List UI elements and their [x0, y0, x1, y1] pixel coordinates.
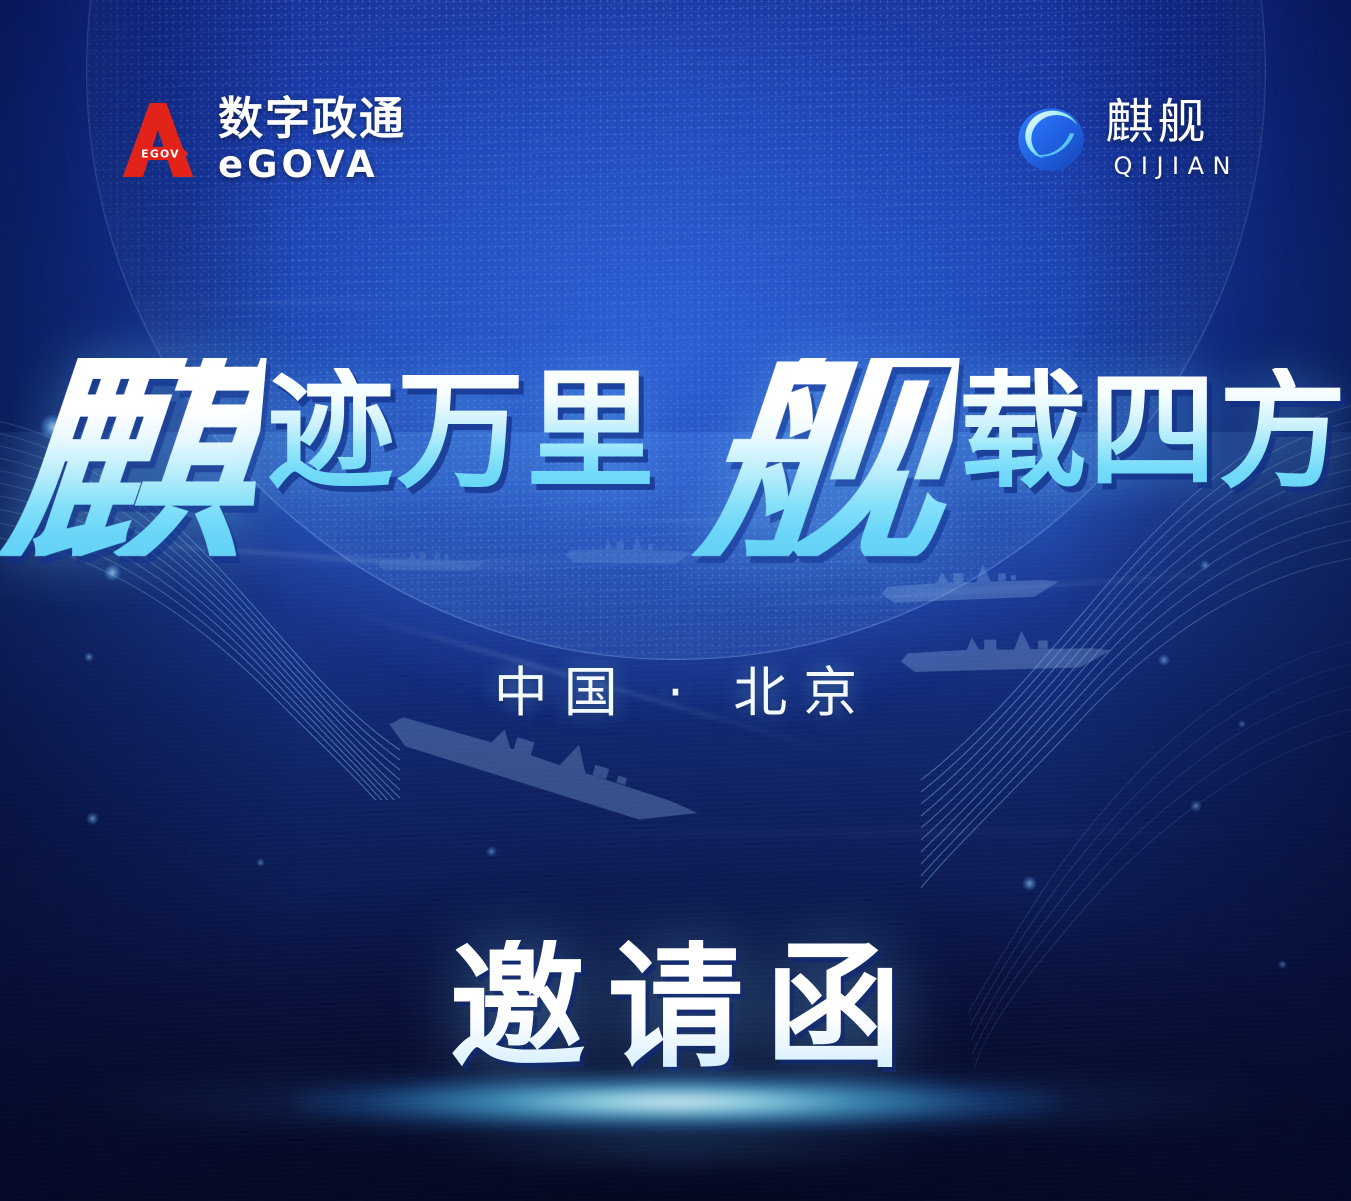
- main-title: 麒 迹万里 舰 载四方: [0, 300, 1351, 530]
- title-phrase-1: 麒 迹万里: [2, 358, 656, 530]
- location-subtitle: 中国 · 北京: [0, 648, 1351, 727]
- invitation-poster: EGOV 数字政通 eGOVA: [0, 0, 1351, 1201]
- qijian-swoosh-globe-icon: [1012, 99, 1090, 177]
- title-lead-glyph-2: 舰: [686, 358, 959, 556]
- egova-mark-text: EGOV: [141, 147, 180, 160]
- light-particle: [86, 812, 99, 825]
- light-particle: [1190, 800, 1202, 812]
- qijian-name-en: QIJIAN: [1106, 154, 1240, 178]
- light-particle: [256, 858, 265, 867]
- egova-logo[interactable]: EGOV 数字政通 eGOVA: [116, 96, 406, 183]
- egova-name-en: eGOVA: [218, 146, 406, 183]
- qijian-wordmark: 麒舰 QIJIAN: [1106, 98, 1240, 178]
- light-particle: [1200, 560, 1210, 570]
- logo-row: EGOV 数字政通 eGOVA: [0, 96, 1351, 192]
- invitation-title: 邀请函: [0, 940, 1351, 1076]
- horizon-light-beam: [296, 1073, 1056, 1131]
- title-rest-2: 载四方: [959, 368, 1349, 496]
- title-phrase-2: 舰 载四方: [693, 358, 1349, 530]
- egova-wordmark: 数字政通 eGOVA: [218, 96, 406, 183]
- egova-name-cn: 数字政通: [218, 96, 406, 141]
- light-particle: [486, 846, 497, 857]
- title-rest-1: 迹万里: [266, 368, 656, 496]
- horizon-glow-reflection: [416, 1127, 936, 1167]
- egova-a-mark-icon: EGOV: [116, 98, 200, 182]
- qijian-name-cn: 麒舰: [1106, 98, 1240, 146]
- title-lead-glyph-1: 麒: [0, 358, 267, 556]
- light-particle: [1022, 876, 1037, 891]
- qijian-logo[interactable]: 麒舰 QIJIAN: [1012, 98, 1240, 178]
